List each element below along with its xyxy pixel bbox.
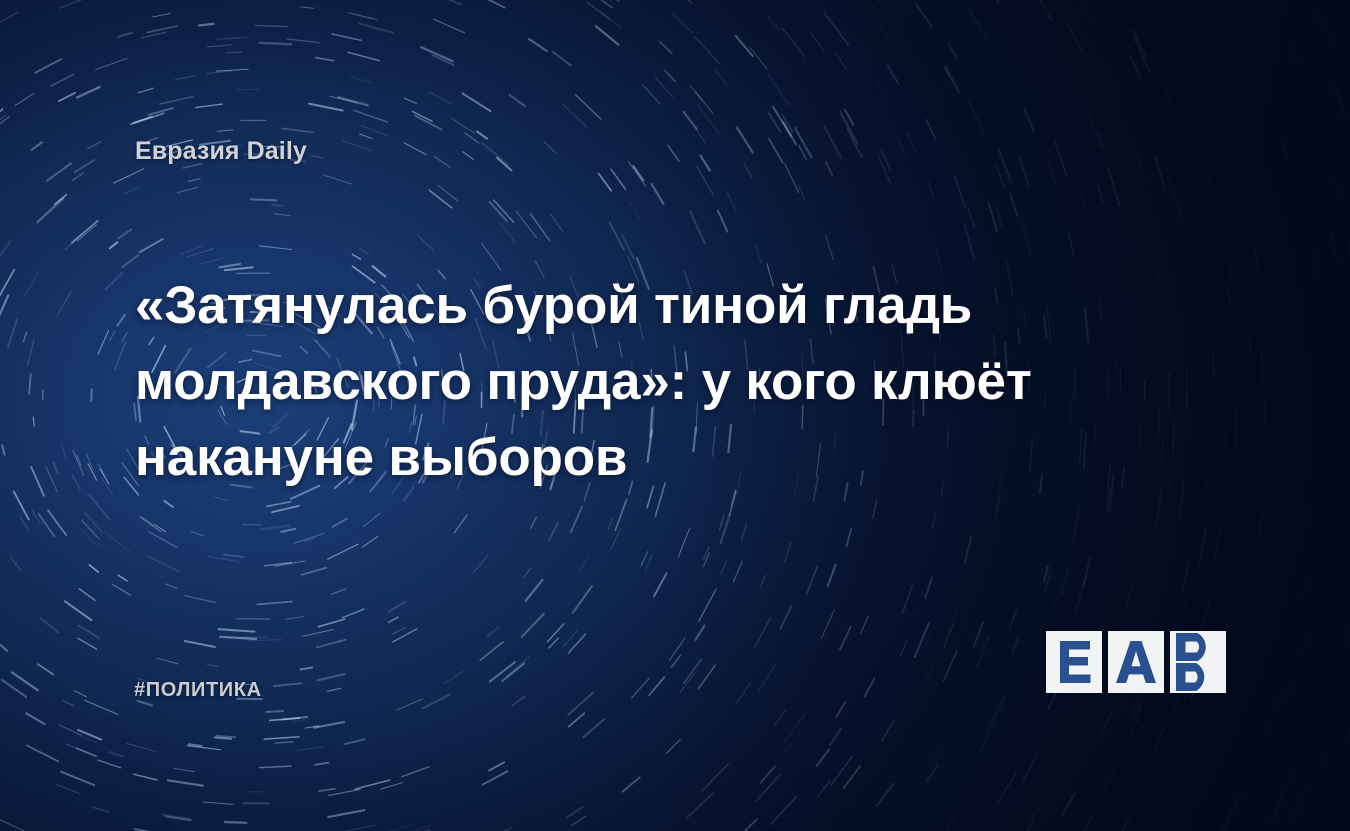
article-card-background: Евразия Daily «Затянулась бурой тиной гл…: [0, 0, 1350, 831]
headline-line-1: «Затянулась бурой тиной гладь: [135, 276, 972, 335]
site-brand-name: Евразия Daily: [135, 137, 307, 166]
headline-line-2: молдавского пруда»: у кого клюёт: [135, 352, 1032, 411]
article-headline: «Затянулась бурой тиной гладь молдавског…: [135, 268, 1095, 496]
article-card-content: Евразия Daily «Затянулась бурой тиной гл…: [0, 0, 1350, 831]
eadaily-logo[interactable]: [1046, 631, 1228, 693]
logo-tile-e: [1046, 631, 1102, 693]
category-tag[interactable]: #ПОЛИТИКА: [134, 679, 262, 702]
headline-line-3: накануне выборов: [135, 428, 627, 487]
logo-tile-a: [1108, 631, 1164, 693]
logo-tile-d: [1170, 631, 1226, 693]
